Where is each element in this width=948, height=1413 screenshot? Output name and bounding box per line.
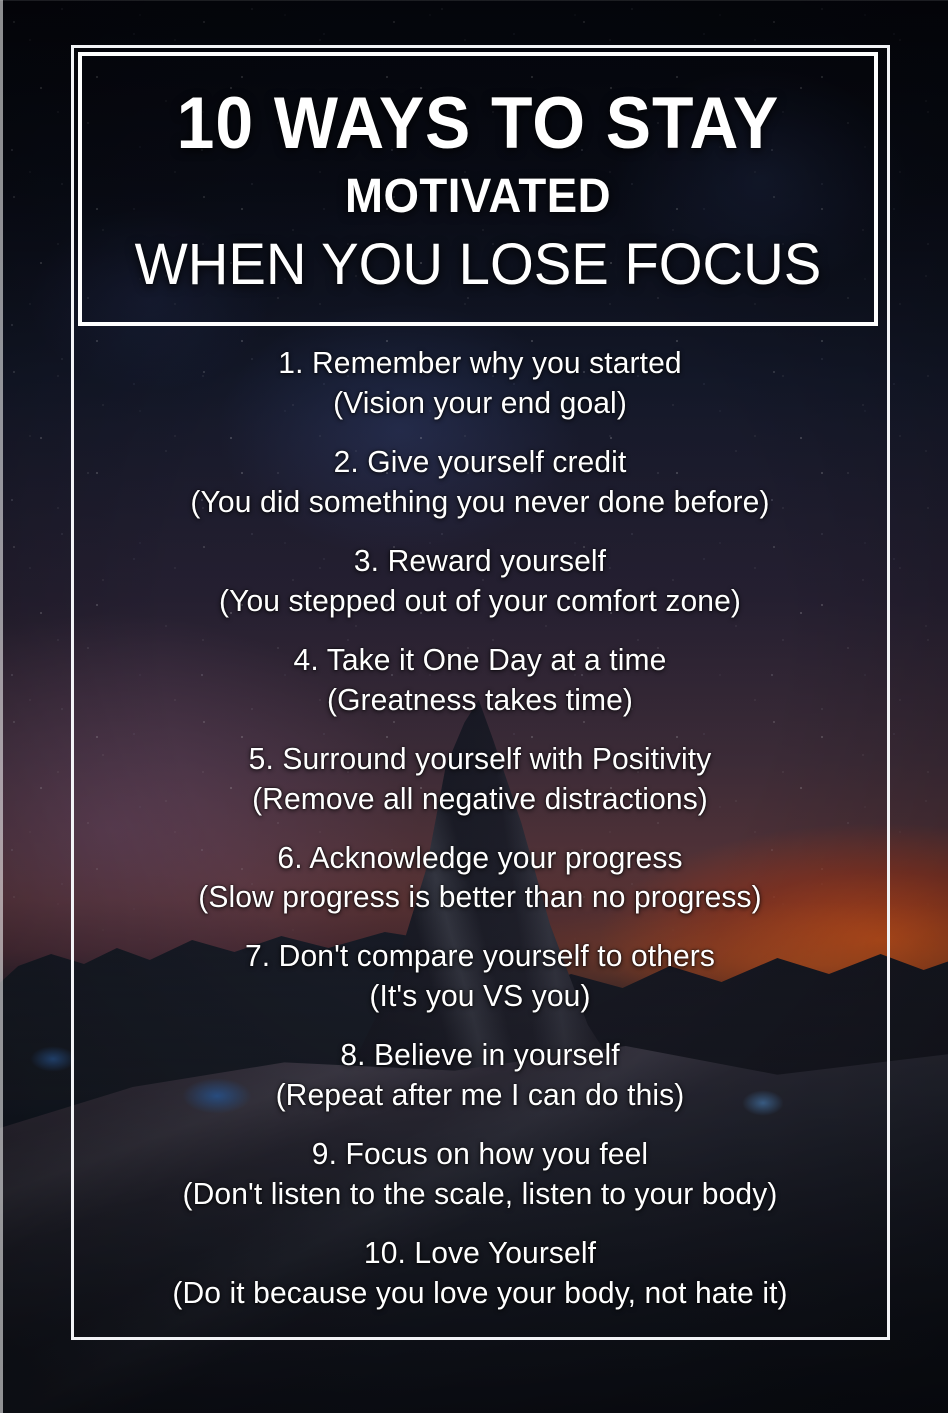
- motivational-poster: 10 WAYS TO STAY MOTIVATED WHEN YOU LOSE …: [0, 0, 948, 1413]
- list-item: 9. Focus on how you feel (Don't listen t…: [78, 1135, 882, 1215]
- list-item: 6. Acknowledge your progress (Slow progr…: [78, 839, 882, 919]
- tip-subtitle: (Repeat after me I can do this): [84, 1076, 876, 1116]
- tip-subtitle: (Remove all negative distractions): [84, 780, 876, 820]
- list-item: 5. Surround yourself with Positivity (Re…: [78, 740, 882, 820]
- tip-heading: 4. Take it One Day at a time: [84, 641, 876, 681]
- list-item: 1. Remember why you started (Vision your…: [78, 344, 882, 424]
- title-box: 10 WAYS TO STAY MOTIVATED WHEN YOU LOSE …: [78, 52, 878, 326]
- tip-subtitle: (You stepped out of your comfort zone): [84, 582, 876, 622]
- tip-heading: 10. Love Yourself: [84, 1234, 876, 1274]
- tip-heading: 6. Acknowledge your progress: [84, 839, 876, 879]
- tip-subtitle: (Slow progress is better than no progres…: [84, 878, 876, 918]
- title-line-1: 10 WAYS TO STAY: [177, 87, 780, 160]
- list-item: 10. Love Yourself (Do it because you lov…: [78, 1234, 882, 1314]
- tip-subtitle: (Don't listen to the scale, listen to yo…: [84, 1175, 876, 1215]
- tip-subtitle: (Vision your end goal): [84, 384, 876, 424]
- tips-list: 1. Remember why you started (Vision your…: [78, 338, 882, 1331]
- tip-subtitle: (You did something you never done before…: [84, 483, 876, 523]
- list-item: 4. Take it One Day at a time (Greatness …: [78, 641, 882, 721]
- tip-subtitle: (It's you VS you): [84, 977, 876, 1017]
- tip-heading: 9. Focus on how you feel: [84, 1135, 876, 1175]
- list-item: 3. Reward yourself (You stepped out of y…: [78, 542, 882, 622]
- tip-heading: 1. Remember why you started: [84, 344, 876, 384]
- list-item: 7. Don't compare yourself to others (It'…: [78, 937, 882, 1017]
- tip-heading: 3. Reward yourself: [84, 542, 876, 582]
- list-item: 8. Believe in yourself (Repeat after me …: [78, 1036, 882, 1116]
- tip-heading: 8. Believe in yourself: [84, 1036, 876, 1076]
- tip-subtitle: (Greatness takes time): [84, 681, 876, 721]
- tip-heading: 7. Don't compare yourself to others: [84, 937, 876, 977]
- tip-heading: 5. Surround yourself with Positivity: [84, 740, 876, 780]
- tip-subtitle: (Do it because you love your body, not h…: [84, 1274, 876, 1314]
- title-line-2: MOTIVATED: [345, 173, 611, 221]
- title-line-3: WHEN YOU LOSE FOCUS: [135, 236, 822, 294]
- list-item: 2. Give yourself credit (You did somethi…: [78, 443, 882, 523]
- tip-heading: 2. Give yourself credit: [84, 443, 876, 483]
